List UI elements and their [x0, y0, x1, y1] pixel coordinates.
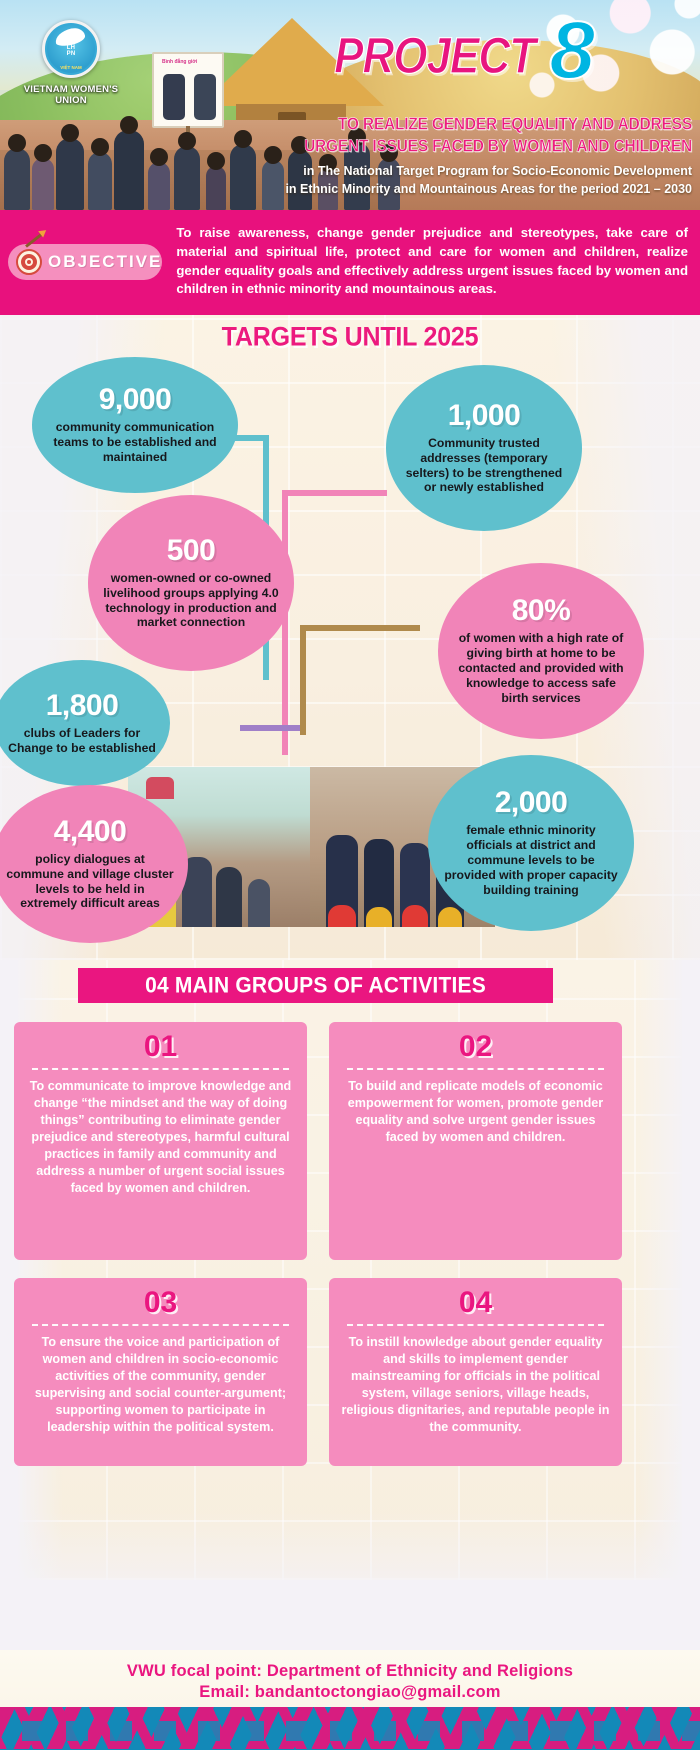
dashed-divider [347, 1324, 604, 1326]
target-desc: Community trusted addresses (temporary s… [400, 436, 568, 496]
logo-initials: LH PN [47, 45, 95, 58]
dashed-divider [347, 1068, 604, 1070]
target-desc: clubs of Leaders for Change to be establ… [8, 726, 156, 756]
target-bubble-80pct: 80% of women with a high rate of giving … [438, 563, 644, 739]
organization-name: VIETNAM WOMEN'S UNION [12, 84, 130, 106]
target-number: 1,000 [448, 401, 521, 431]
arrow-icon [25, 231, 44, 247]
footer-email[interactable]: Email: bandantoctongiao@gmail.com [0, 1681, 700, 1702]
activities-section: 04 MAIN GROUPS OF ACTIVITIES 01 To commu… [0, 960, 700, 1650]
target-number: 80% [512, 596, 571, 626]
dashed-divider [32, 1324, 289, 1326]
connector-line-brown-2 [300, 625, 306, 735]
activity-text: To ensure the voice and participation of… [24, 1334, 297, 1436]
target-desc: policy dialogues at commune and village … [6, 852, 174, 912]
objective-badge: OBJECTIVE [8, 244, 162, 280]
activity-text: To communicate to improve knowledge and … [24, 1078, 297, 1197]
target-number: 9,000 [99, 385, 172, 415]
connector-line-pink-1 [282, 490, 387, 496]
activities-banner-title: 04 MAIN GROUPS OF ACTIVITIES [145, 973, 486, 998]
target-number: 1,800 [46, 691, 119, 721]
logo-country: VIỆT NAM [47, 65, 95, 70]
activity-text: To build and replicate models of economi… [339, 1078, 612, 1146]
project-number: 8 [549, 10, 595, 92]
target-desc: female ethnic minority officials at dist… [442, 823, 620, 897]
target-desc: of women with a high rate of giving birt… [452, 631, 630, 705]
target-desc: community communication teams to be esta… [46, 420, 224, 465]
activity-card-02[interactable]: 02 To build and replicate models of econ… [329, 1022, 622, 1260]
target-bubble-2000: 2,000 female ethnic minority officials a… [428, 755, 634, 931]
footer-focal-point: VWU focal point: Department of Ethnicity… [0, 1650, 700, 1681]
target-bubble-4400: 4,400 policy dialogues at commune and vi… [0, 785, 188, 943]
target-number: 500 [167, 536, 216, 566]
connector-line-brown-1 [300, 625, 420, 631]
targets-title: TARGETS UNTIL 2025 [0, 322, 700, 353]
ribbon-wave-pattern [0, 1721, 700, 1741]
activity-text: To instill knowledge about gender equali… [339, 1334, 612, 1436]
dashed-divider [32, 1068, 289, 1070]
target-desc: women-owned or co-owned livelihood group… [102, 571, 280, 631]
infographic-page: Bình đẳng giới LH [0, 0, 700, 1750]
activity-number: 01 [24, 1032, 297, 1062]
activities-banner: 04 MAIN GROUPS OF ACTIVITIES [78, 968, 553, 1003]
hero-banner: Bình đẳng giới LH [0, 0, 700, 210]
objective-section: OBJECTIVE To raise awareness, change gen… [0, 210, 700, 315]
activity-card-04[interactable]: 04 To instill knowledge about gender equ… [329, 1278, 622, 1466]
logo-line-1: LH [67, 45, 75, 51]
activity-number: 04 [339, 1288, 612, 1318]
vwu-logo: LH PN VIỆT NAM [42, 20, 100, 78]
target-bubble-9000: 9,000 community communication teams to b… [32, 357, 238, 493]
connector-line-purple [240, 725, 300, 731]
activity-card-03[interactable]: 03 To ensure the voice and participation… [14, 1278, 307, 1466]
decorative-ribbon [0, 1707, 700, 1750]
target-number: 4,400 [54, 817, 127, 847]
target-bubble-1000: 1,000 Community trusted addresses (tempo… [386, 365, 582, 531]
footer-section: VWU focal point: Department of Ethnicity… [0, 1650, 700, 1750]
logo-line-2: PN [67, 51, 76, 57]
project-word: PROJECT [334, 28, 535, 86]
activity-card-01[interactable]: 01 To communicate to improve knowledge a… [14, 1022, 307, 1260]
targets-section: TARGETS UNTIL 2025 9 [0, 315, 700, 960]
target-bubble-1800: 1,800 clubs of Leaders for Change to be … [0, 660, 170, 786]
target-bubble-500: 500 women-owned or co-owned livelihood g… [88, 495, 294, 671]
objective-label: OBJECTIVE [48, 252, 162, 272]
target-number: 2,000 [495, 788, 568, 818]
objective-text: To raise awareness, change gender prejud… [176, 224, 688, 299]
headline-line-2: URGENT ISSUES FACED BY WOMEN AND CHILDRE… [304, 137, 692, 157]
subtitle-line-2: in Ethnic Minority and Mountainous Areas… [285, 182, 692, 196]
activity-number: 02 [339, 1032, 612, 1062]
activity-number: 03 [24, 1288, 297, 1318]
headline-line-1: TO REALIZE GENDER EQUALITY AND ADDRESS [338, 115, 692, 135]
activities-card-grid: 01 To communicate to improve knowledge a… [14, 1022, 686, 1466]
subtitle-line-1: in The National Target Program for Socio… [303, 164, 692, 178]
target-icon [16, 249, 42, 275]
poster-caption: Bình đẳng giới [162, 59, 197, 65]
